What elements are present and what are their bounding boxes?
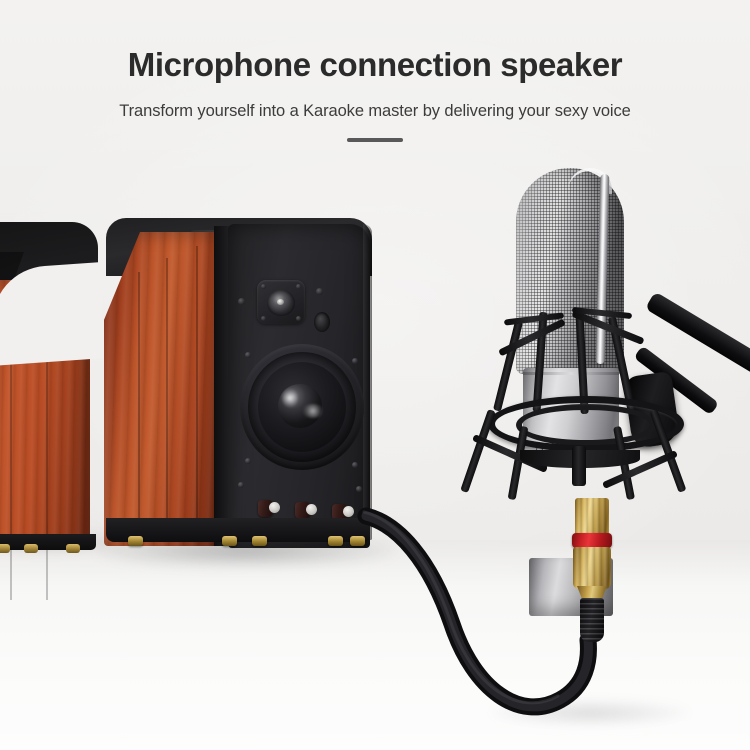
speaker-foot	[328, 536, 343, 546]
speaker-baffle-edge	[363, 224, 372, 540]
product-banner: POWER BASS VOLUME	[0, 0, 750, 750]
baffle-screw	[356, 486, 362, 492]
baffle-screw	[238, 482, 244, 488]
tweeter-screw	[261, 284, 266, 289]
speaker-foot	[128, 536, 143, 546]
xlr-connector	[566, 498, 618, 644]
woofer-screw	[245, 458, 251, 464]
wood-grain-seam	[10, 350, 12, 600]
bookshelf-speaker: POWER BASS VOLUME	[106, 218, 372, 550]
wood-grain-seam	[166, 258, 168, 542]
shock-strut	[460, 409, 496, 493]
speaker-foot	[0, 544, 10, 553]
speaker-wood-panel	[104, 232, 224, 546]
speaker-foot	[222, 536, 237, 546]
speaker-foot	[66, 544, 80, 553]
woofer-screw	[352, 358, 358, 364]
woofer-screw	[245, 352, 251, 358]
bass-reflex-port	[314, 312, 330, 332]
woofer-screw	[352, 462, 358, 468]
control-knob-cap[interactable]	[343, 506, 354, 517]
shadow-microphone	[490, 700, 690, 726]
wood-grain-seam	[196, 246, 198, 542]
woofer-highlight	[302, 404, 324, 418]
speaker-foot	[24, 544, 38, 553]
tweeter-highlight	[277, 299, 284, 305]
tweeter-screw	[261, 316, 266, 321]
banner-header: Microphone connection speaker Transform …	[0, 0, 750, 142]
spider-shock-mount	[452, 300, 720, 520]
speaker-foot	[350, 536, 365, 546]
title-divider	[347, 138, 403, 142]
xlr-red-band	[572, 533, 612, 548]
wood-grain-seam	[46, 350, 48, 600]
tweeter-screw	[296, 284, 301, 289]
woofer-highlight	[282, 388, 298, 408]
shock-mount-stem	[572, 446, 586, 486]
secondary-speaker	[0, 222, 98, 552]
xlr-knurled-barrel	[573, 547, 611, 589]
shock-strut	[493, 320, 523, 411]
speaker-foot	[252, 536, 267, 546]
page-title: Microphone connection speaker	[0, 0, 750, 84]
baffle-screw	[238, 298, 245, 305]
control-knob-cap[interactable]	[306, 504, 317, 515]
xlr-upper-barrel	[575, 498, 609, 536]
speaker-top-bevel	[0, 262, 105, 365]
tweeter-screw	[296, 316, 301, 321]
control-knob-cap[interactable]	[269, 502, 280, 513]
xlr-strain-relief	[580, 598, 604, 642]
baffle-screw	[316, 288, 323, 295]
speaker-base	[0, 534, 96, 550]
page-subtitle: Transform yourself into a Karaoke master…	[0, 84, 750, 121]
wood-grain-seam	[138, 272, 140, 540]
